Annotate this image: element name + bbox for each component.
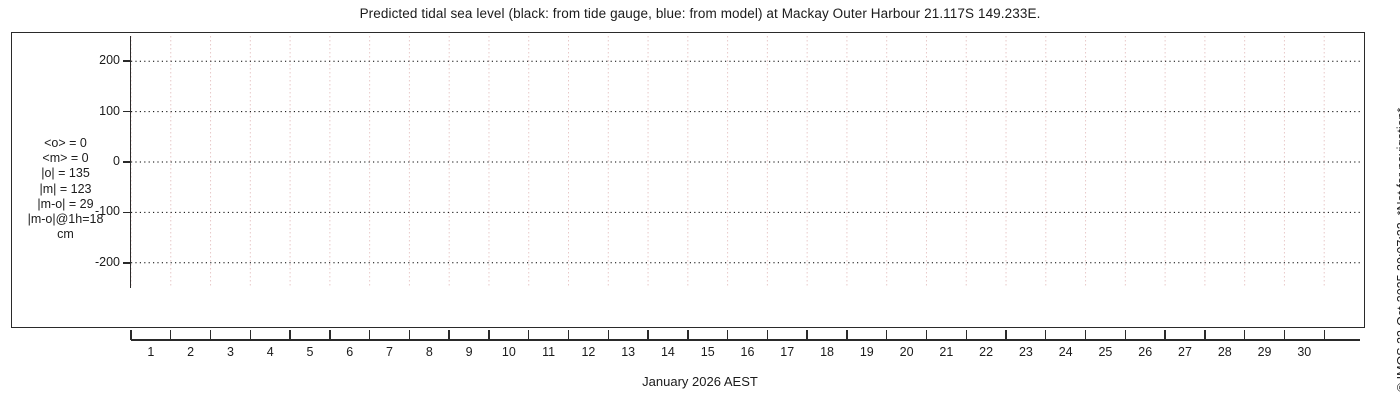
x-axis-tick-label: 4 <box>253 345 287 359</box>
x-axis-tick <box>1324 330 1325 340</box>
x-axis-tick <box>846 330 847 340</box>
x-axis-line <box>131 339 1360 341</box>
x-axis-tick <box>1085 330 1086 340</box>
x-axis-tick <box>1284 330 1285 340</box>
x-axis-tick-label: 2 <box>174 345 208 359</box>
x-axis-tick <box>1125 330 1126 340</box>
x-axis-tick-label: 7 <box>373 345 407 359</box>
x-axis-tick <box>568 330 569 340</box>
x-axis-tick-label: 3 <box>213 345 247 359</box>
x-axis-tick <box>289 330 290 340</box>
tide-chart-page: Predicted tidal sea level (black: from t… <box>0 0 1400 400</box>
x-axis-tick <box>329 330 330 340</box>
statistics-line: <o> = 0 <box>0 136 131 151</box>
y-axis-tick <box>123 262 131 264</box>
y-axis-tick <box>123 60 131 62</box>
x-axis-tick <box>1045 330 1046 340</box>
x-axis-tick-label: 29 <box>1248 345 1282 359</box>
x-axis-tick-label: 20 <box>890 345 924 359</box>
x-axis-tick <box>687 330 688 340</box>
x-axis-tick <box>966 330 967 340</box>
x-axis-tick-label: 9 <box>452 345 486 359</box>
x-axis-tick-label: 8 <box>412 345 446 359</box>
x-axis-tick <box>1204 330 1205 340</box>
x-axis-tick-label: 10 <box>492 345 526 359</box>
y-axis-tick <box>123 212 131 214</box>
tide-series-plot <box>131 36 1360 288</box>
y-axis-tick-label: -100 <box>76 204 120 218</box>
statistics-line: |m| = 123 <box>0 182 131 197</box>
credit-text: © IMOS 22-Oct-2025 20:07:22. *Not for na… <box>1395 108 1400 392</box>
x-axis-tick <box>886 330 887 340</box>
y-axis-tick <box>123 111 131 113</box>
x-axis-tick-label: 26 <box>1128 345 1162 359</box>
x-axis-title: January 2026 AEST <box>0 374 1400 389</box>
x-axis-tick <box>608 330 609 340</box>
x-axis-tick <box>369 330 370 340</box>
x-axis-tick-label: 12 <box>571 345 605 359</box>
statistics-line: |o| = 135 <box>0 166 131 181</box>
x-axis-tick-label: 17 <box>770 345 804 359</box>
x-axis-tick <box>1244 330 1245 340</box>
credit-watermark: © IMOS 22-Oct-2025 20:07:22. *Not for na… <box>1379 0 1400 400</box>
x-axis-tick <box>488 330 489 340</box>
x-axis-tick <box>767 330 768 340</box>
plot-area <box>131 36 1360 288</box>
x-axis-tick <box>1164 330 1165 340</box>
x-axis-tick-label: 14 <box>651 345 685 359</box>
x-axis-tick-label: 30 <box>1287 345 1321 359</box>
y-axis-tick-label: 0 <box>76 154 120 168</box>
x-axis-tick <box>170 330 171 340</box>
x-axis-tick <box>409 330 410 340</box>
x-axis-tick <box>528 330 529 340</box>
x-axis-tick-label: 28 <box>1208 345 1242 359</box>
x-axis-tick-label: 5 <box>293 345 327 359</box>
x-axis-tick <box>806 330 807 340</box>
y-axis-tick-label: -200 <box>76 255 120 269</box>
x-axis-tick <box>727 330 728 340</box>
y-axis-tick-label: 100 <box>76 104 120 118</box>
x-axis-tick-label: 22 <box>969 345 1003 359</box>
x-axis-tick-label: 24 <box>1049 345 1083 359</box>
x-axis-tick <box>448 330 449 340</box>
statistics-line: cm <box>0 227 131 242</box>
x-axis-tick <box>250 330 251 340</box>
x-axis-tick <box>1005 330 1006 340</box>
x-axis-tick-label: 15 <box>691 345 725 359</box>
x-axis-tick-label: 16 <box>730 345 764 359</box>
x-axis-tick-label: 19 <box>850 345 884 359</box>
x-axis-tick-label: 21 <box>929 345 963 359</box>
y-axis-tick-label: 200 <box>76 53 120 67</box>
x-axis-tick-label: 1 <box>134 345 168 359</box>
x-axis-tick-label: 27 <box>1168 345 1202 359</box>
x-axis-tick <box>926 330 927 340</box>
x-axis-tick-label: 18 <box>810 345 844 359</box>
x-axis-tick <box>210 330 211 340</box>
x-axis-tick-label: 25 <box>1088 345 1122 359</box>
page-title: Predicted tidal sea level (black: from t… <box>0 6 1400 21</box>
y-axis-tick <box>123 161 131 163</box>
x-axis-tick-label: 6 <box>333 345 367 359</box>
x-axis-tick-label: 13 <box>611 345 645 359</box>
x-axis-tick-label: 23 <box>1009 345 1043 359</box>
statistics-block: <o> = 0<m> = 0|o| = 135|m| = 123|m-o| = … <box>0 136 131 242</box>
x-axis-tick-label: 11 <box>532 345 566 359</box>
x-axis-tick <box>130 330 131 340</box>
x-axis-tick <box>647 330 648 340</box>
